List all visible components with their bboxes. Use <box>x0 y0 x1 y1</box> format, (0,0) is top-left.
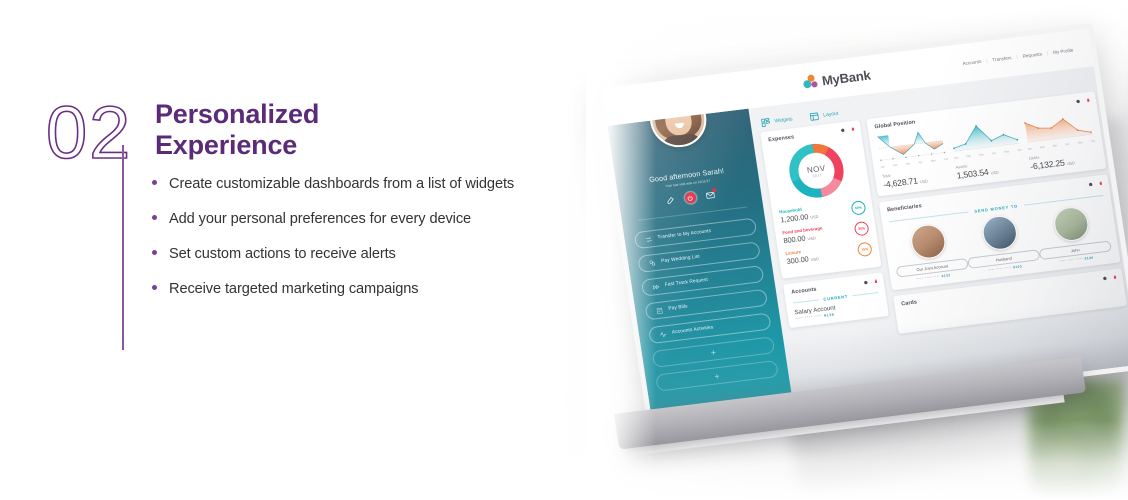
list-item: Receive targeted marketing campaigns <box>152 281 592 299</box>
bullet-dot-icon <box>152 285 157 290</box>
gift-icon <box>648 258 657 267</box>
sparkline-assets: Jan Feb Mar Apr May Jun <box>949 118 1022 160</box>
tab-layout[interactable]: Layout <box>809 108 839 121</box>
gear-icon[interactable] <box>1087 181 1093 187</box>
sidebar-item-label: Fast Track Request <box>665 278 709 288</box>
expense-row: Leisure 300.00USD 15% <box>785 241 873 266</box>
list-item-label: Add your personal preferences for every … <box>169 211 471 229</box>
bullet-dot-icon <box>152 215 157 220</box>
sidebar-item-label: Pay Bills <box>668 304 688 311</box>
mail-icon[interactable] <box>705 190 715 200</box>
widget-accounts: Accounts <box>783 272 889 328</box>
topnav-item-transfers[interactable]: Transfers <box>987 54 1017 63</box>
heading-line-1: Personalized <box>155 99 575 130</box>
trash-icon[interactable] <box>1098 180 1103 186</box>
beneficiary-avatar <box>1052 205 1091 243</box>
accounts-section-label: CURRENT <box>818 293 853 302</box>
trash-icon[interactable] <box>1085 97 1090 103</box>
bullet-dot-icon <box>152 180 157 185</box>
topnav-item-accounts[interactable]: Accounts <box>957 58 986 66</box>
edit-icon[interactable] <box>665 195 675 205</box>
mail-badge <box>712 188 716 192</box>
gear-icon[interactable] <box>1075 98 1081 104</box>
sidebar-item-label: Transfer to My Accounts <box>657 229 711 241</box>
top-navigation: Accounts | Transfers | Requests | My Pro… <box>957 45 1091 66</box>
topnav-item-my-profile[interactable]: My Profile <box>1048 46 1079 55</box>
page-title: Personalized Experience <box>155 99 575 162</box>
global-position-debts: Debts -6,132.25USD <box>1029 147 1099 171</box>
tab-label: Layout <box>823 110 839 118</box>
sidebar-item-label: Pay Wedding List <box>661 255 700 265</box>
list-item: Create customizable dashboards from a li… <box>152 176 592 194</box>
layout-icon <box>809 111 820 122</box>
sidebar-menu: Transfer to My Accounts Pay Wedding List <box>624 216 789 393</box>
list-item: Add your personal preferences for every … <box>152 211 592 229</box>
list-item-label: Create customizable dashboards from a li… <box>169 176 514 194</box>
global-position-total: Total -4,628.71USD <box>882 166 952 190</box>
vertical-divider <box>122 145 124 350</box>
slide-number: 02 <box>46 96 132 170</box>
transfer-icon <box>644 235 653 244</box>
expense-percent: 15% <box>857 241 873 257</box>
expenses-donut-chart: NOV 2017 <box>770 139 863 203</box>
feature-bullet-list: Create customizable dashboards from a li… <box>152 176 592 316</box>
bullet-dot-icon <box>152 250 157 255</box>
list-item-label: Receive targeted marketing campaigns <box>169 281 419 299</box>
activity-icon <box>659 330 668 339</box>
beneficiary-item[interactable]: Our Joint Account **** **** **** 9132 <box>890 220 970 283</box>
monitor-mockup: MyBank Accounts | Transfers | Requests |… <box>596 84 1116 464</box>
topnav-item-requests[interactable]: Requests <box>1017 50 1047 59</box>
expense-currency: USD <box>810 214 819 220</box>
gear-icon[interactable] <box>862 279 868 285</box>
trash-icon[interactable] <box>1112 274 1117 280</box>
greeting-block: Good afternoon Sarah! Your last visit wa… <box>615 162 761 212</box>
sidebar-item-label: Accounts Activities <box>672 325 714 335</box>
beneficiary-item[interactable]: John **** **** **** 9136 <box>1033 203 1113 266</box>
beneficiary-item[interactable]: Husband **** **** **** 9103 <box>962 212 1042 275</box>
beneficiary-avatar <box>909 223 948 261</box>
tab-label: Widgets <box>774 116 793 124</box>
sparkline-debts: Jan Feb Mar Apr May Jun <box>1023 109 1096 151</box>
main-content: Widgets Layout <box>748 66 1128 407</box>
tab-widgets[interactable]: Widgets <box>760 114 793 128</box>
global-position-assets: Assets 1,503.54USD <box>955 156 1025 180</box>
expense-percent: 35% <box>854 220 870 236</box>
list-item: Set custom actions to receive alerts <box>152 246 592 264</box>
heading-line-2: Experience <box>155 130 575 161</box>
logo-zone <box>605 90 746 107</box>
brand-logo[interactable]: MyBank <box>802 67 871 90</box>
sidebar-divider <box>638 206 747 220</box>
slide-text-panel: 02 Personalized Experience Create custom… <box>0 0 600 500</box>
expense-currency: USD <box>807 235 816 241</box>
sparkline-total: Jan Feb Mar Apr May Jun <box>876 127 949 169</box>
widgets-column-right: Global Position <box>866 91 1128 393</box>
widget-expenses: Expenses <box>760 120 881 279</box>
gear-icon[interactable] <box>839 127 845 133</box>
bill-icon <box>655 306 664 315</box>
beneficiary-avatar <box>980 214 1019 252</box>
expense-percent: 50% <box>850 200 866 216</box>
expense-currency: USD <box>810 256 819 262</box>
brand-name: MyBank <box>821 67 872 88</box>
brand-dots-icon <box>802 73 820 90</box>
list-item-label: Set custom actions to receive alerts <box>169 246 396 264</box>
power-icon[interactable] <box>684 192 697 204</box>
trash-icon[interactable] <box>850 126 855 132</box>
gear-icon[interactable] <box>1101 275 1107 281</box>
fast-track-icon <box>651 282 660 291</box>
widgets-icon <box>760 117 771 128</box>
trash-icon[interactable] <box>873 278 878 284</box>
